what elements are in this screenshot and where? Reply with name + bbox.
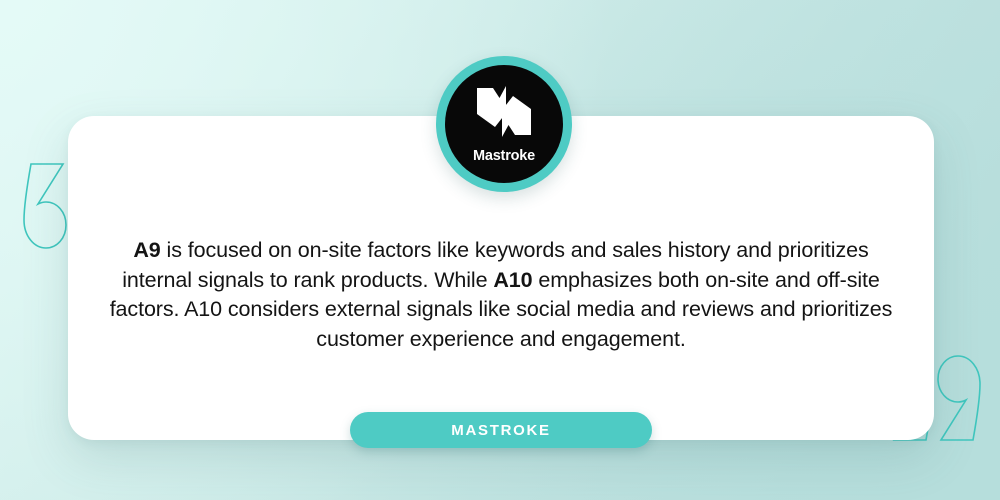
quote-text: A9 is focused on on-site factors like ke… [96,236,906,354]
quote-segment-a9: A9 [133,238,160,262]
quote-segment-a10: A10 [493,268,532,292]
mastroke-butterfly-m-icon [475,84,533,144]
mastroke-cta-button[interactable]: MASTROKE [350,412,652,448]
brand-logo-badge: Mastroke [436,56,572,192]
brand-logo-disc: Mastroke [445,65,563,183]
brand-wordmark: Mastroke [473,149,535,164]
